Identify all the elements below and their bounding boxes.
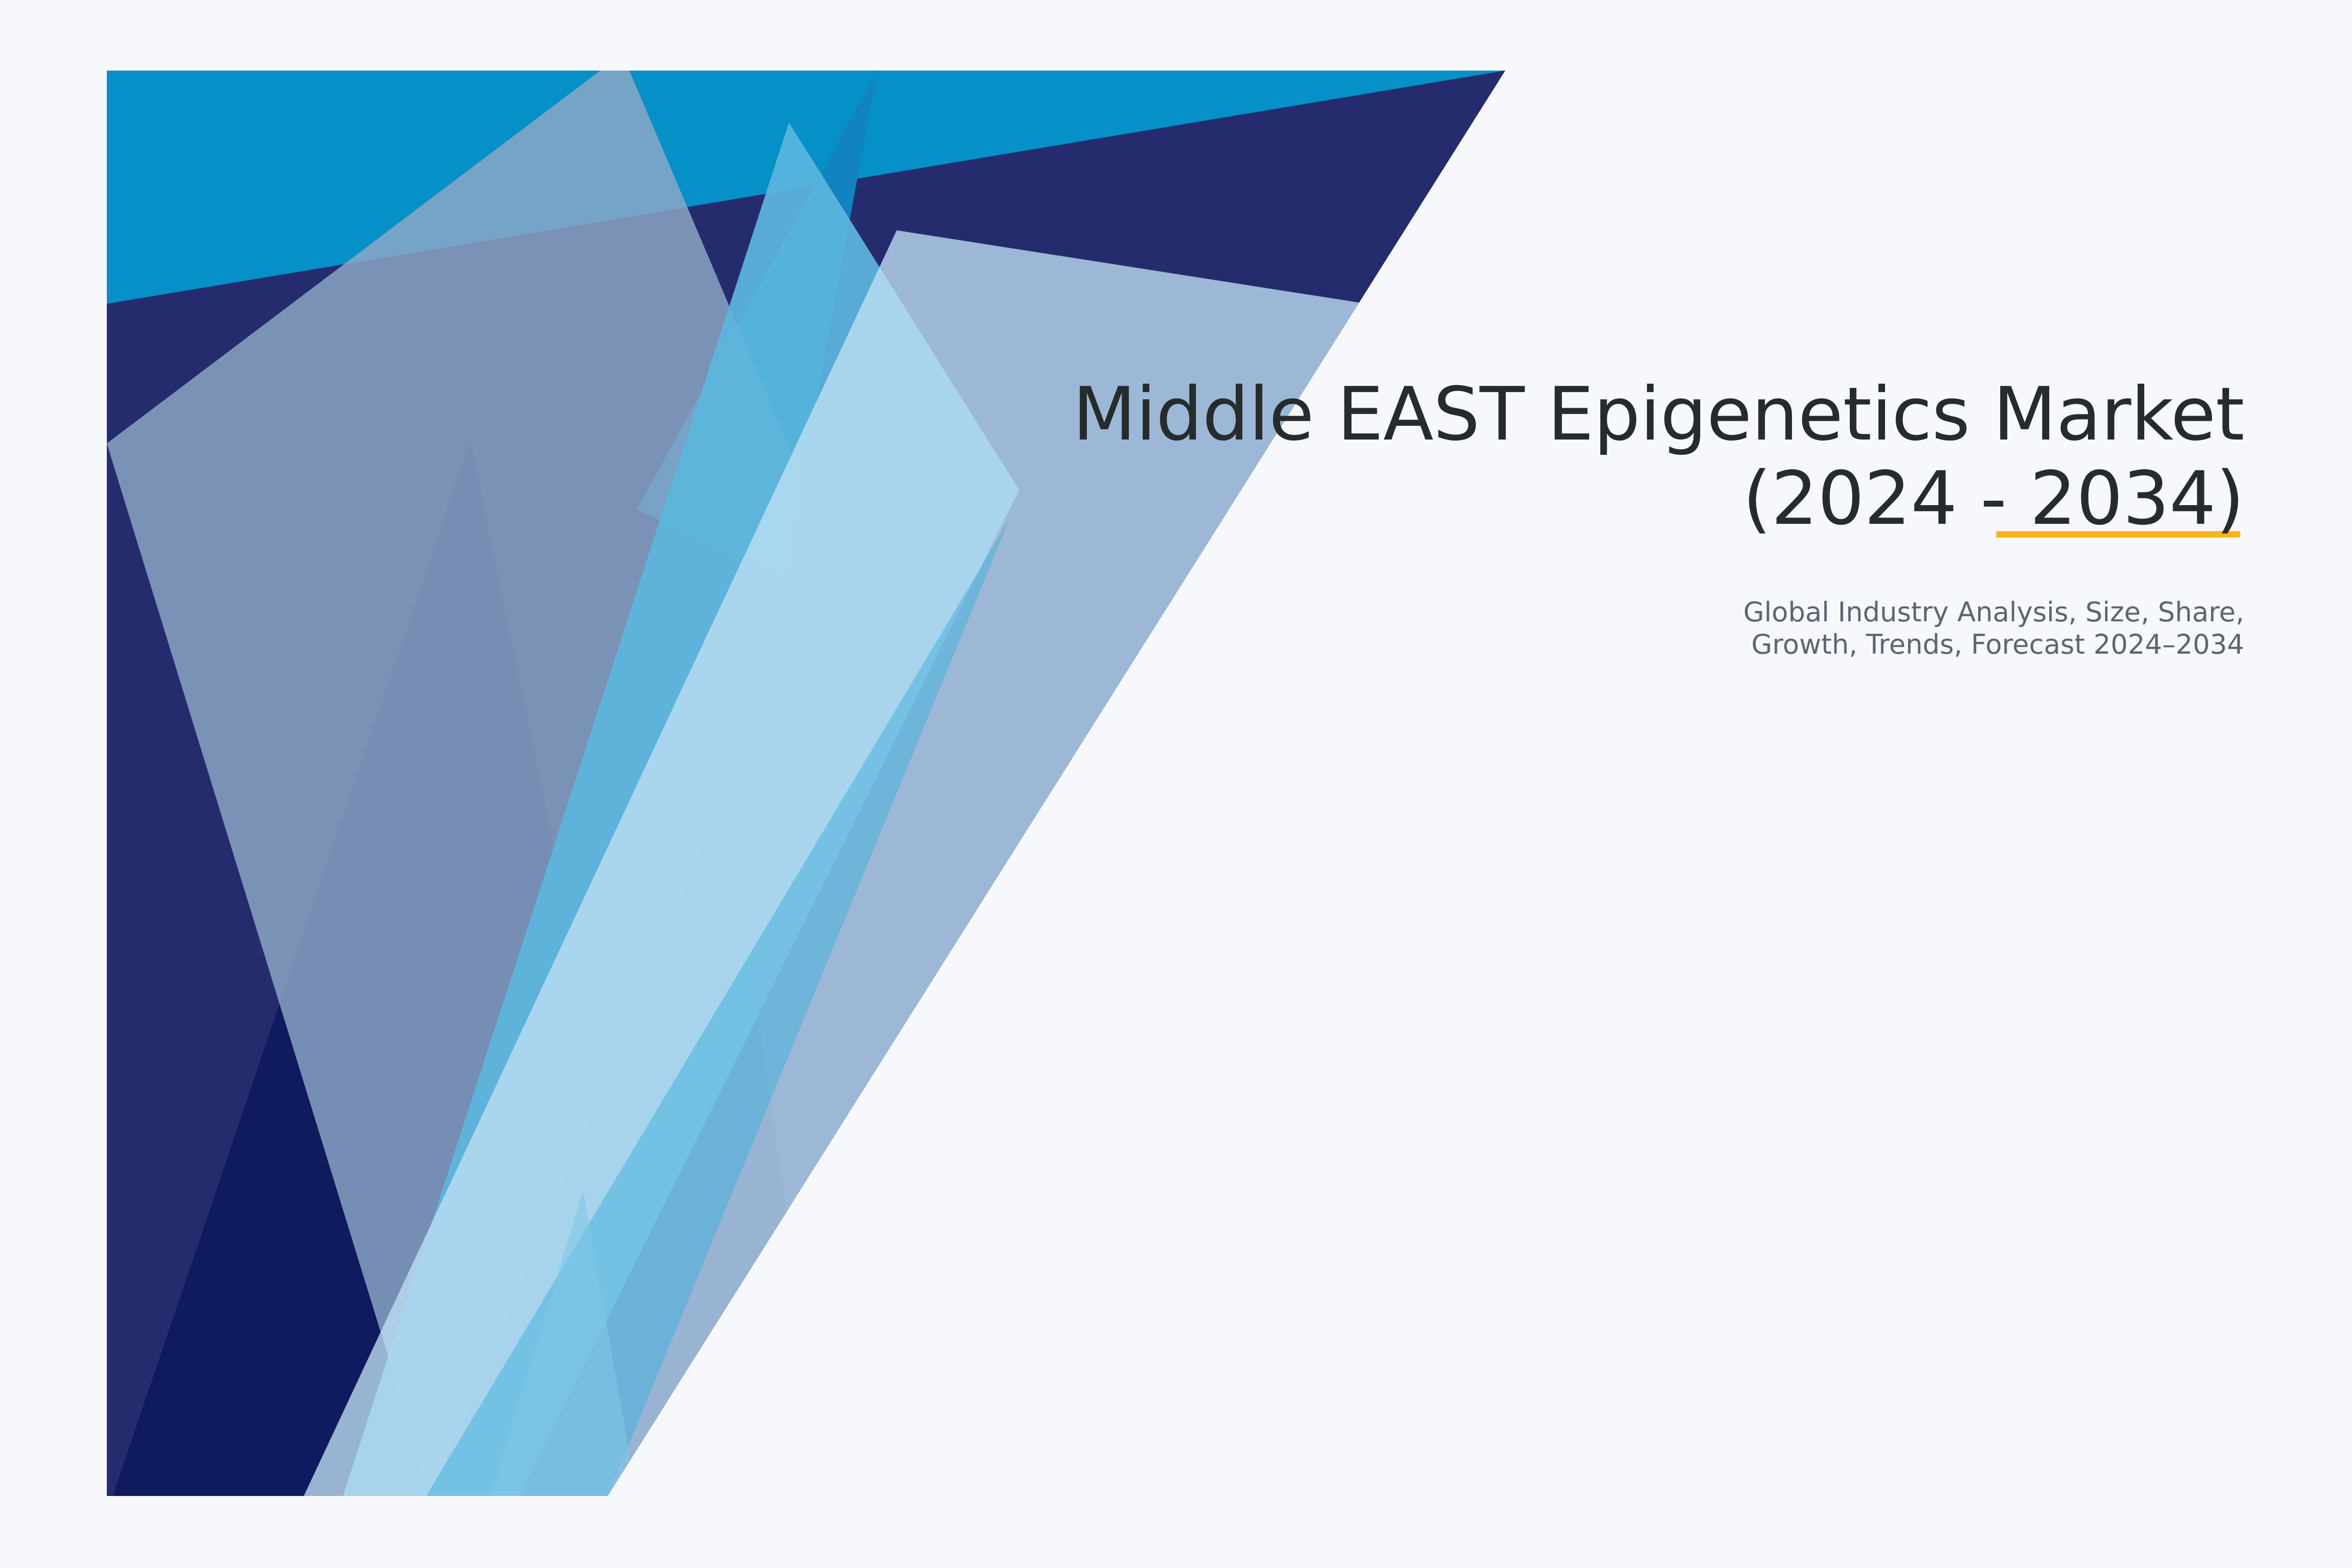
page-subtitle-line-1: Global Industry Analysis, Size, Share, (980, 596, 2244, 628)
page-subtitle-line-2: Growth, Trends, Forecast 2024–2034 (980, 628, 2244, 661)
page-title: Middle EAST Epigenetics Market (2024 - 2… (980, 372, 2244, 541)
artwork-svg (0, 0, 1568, 1568)
page-title-line-1: Middle EAST Epigenetics Market (980, 372, 2244, 457)
page-title-line-2: (2024 - 2034) (980, 457, 2244, 541)
cover-page: Middle EAST Epigenetics Market (2024 - 2… (0, 0, 2352, 1568)
abstract-polygon-cover-graphic (0, 0, 1568, 1568)
page-subtitle: Global Industry Analysis, Size, Share, G… (980, 596, 2244, 661)
cover-text-block: Middle EAST Epigenetics Market (2024 - 2… (980, 372, 2244, 661)
